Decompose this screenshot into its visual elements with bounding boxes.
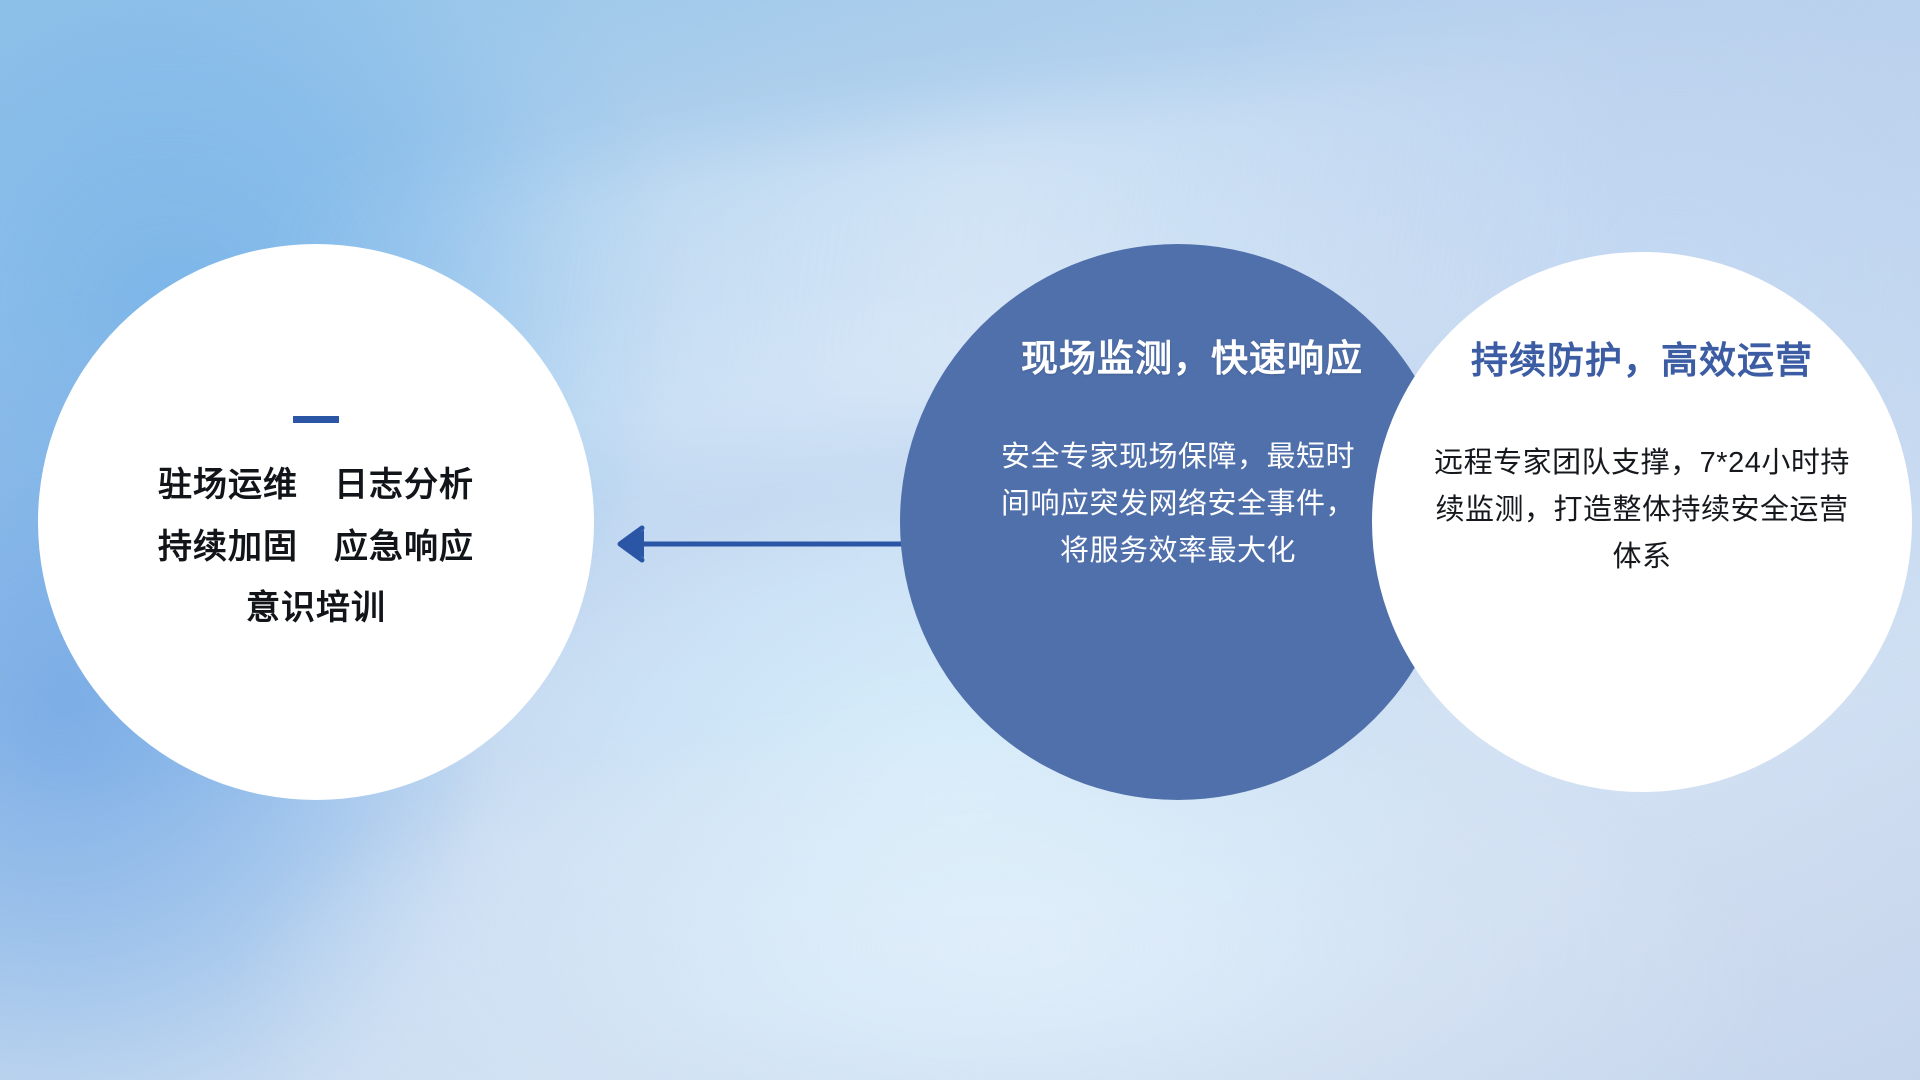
right-card-title: 持续防护，高效运营 [1471, 330, 1813, 384]
keyword-list: 驻场运维 日志分析 持续加固 应急响应 意识培训 [158, 467, 474, 627]
divider-dash [293, 416, 339, 423]
keyword-item[interactable]: 日志分析 [334, 467, 474, 504]
keyword-item[interactable]: 驻场运维 [158, 467, 298, 504]
right-operations-circle[interactable]: 持续防护，高效运营 远程专家团队支撑，7*24小时持续监测，打造整体持续安全运营… [1372, 252, 1912, 792]
slide-canvas: 驻场运维 日志分析 持续加固 应急响应 意识培训 现场监测，快速响应 安全专家现… [0, 0, 1920, 1080]
keyword-row: 驻场运维 日志分析 [158, 467, 474, 504]
keyword-item[interactable]: 意识培训 [246, 590, 386, 627]
middle-card-title: 现场监测，快速响应 [1021, 328, 1363, 382]
keyword-row: 持续加固 应急响应 [158, 529, 474, 566]
right-card-body: 远程专家团队支撑，7*24小时持续监测，打造整体持续安全运营体系 [1432, 440, 1852, 581]
left-keyword-circle[interactable]: 驻场运维 日志分析 持续加固 应急响应 意识培训 [38, 244, 594, 800]
middle-card-body: 安全专家现场保障，最短时间响应突发网络安全事件，将服务效率最大化 [993, 434, 1363, 575]
keyword-item[interactable]: 应急响应 [334, 529, 474, 566]
flow-arrow-left-icon [594, 520, 924, 568]
keyword-item[interactable]: 持续加固 [158, 529, 298, 566]
keyword-row: 意识培训 [246, 590, 386, 627]
